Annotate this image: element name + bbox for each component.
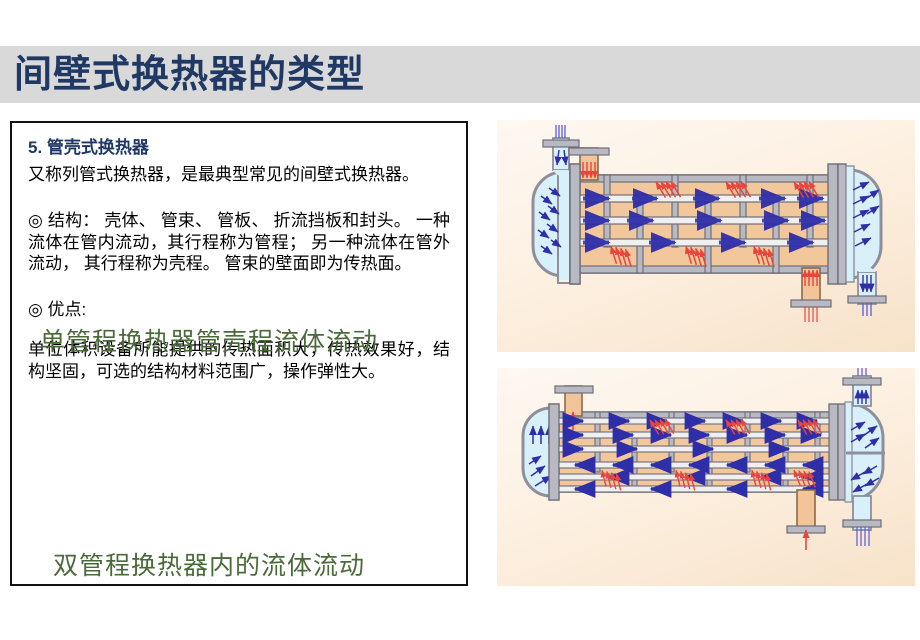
diagram-panel-single-pass (497, 120, 915, 352)
spacer-1 (28, 192, 450, 210)
two-pass-exchanger-svg (497, 368, 915, 586)
spacer-2 (28, 281, 450, 299)
caption-two-pass: 双管程换热器内的流体流动 (0, 546, 418, 582)
tube-nozzle-right-bottom (843, 496, 881, 546)
caption-single-pass: 单管程换热器管壳程流体流动 (0, 322, 418, 358)
textbox-paragraph-1: 又称列管式换热器，是最典型常见的间壁式换热器。 (28, 164, 450, 186)
tube-nozzle-right-top (843, 368, 881, 406)
textbox-paragraph-2: ◎ 结构： 壳体、 管束、 管板、 折流挡板和封头。 一种流体在管内流动，其行程… (28, 210, 450, 275)
diagram-panel-two-pass (497, 368, 915, 586)
page-title: 间壁式换热器的类型 (14, 46, 714, 103)
right-head-two-pass (845, 402, 885, 502)
textbox-paragraph-3: ◎ 优点: (28, 299, 450, 321)
textbox-heading: 5. 管壳式换热器 (28, 137, 450, 159)
right-head (846, 166, 881, 282)
shell-outlet-nozzle-bottom (791, 268, 831, 322)
shell-outlet-nozzle-bottom (787, 490, 825, 550)
slide-root: 间壁式换热器的类型 5. 管壳式换热器 又称列管式换热器，是最典型常见的间壁式换… (0, 0, 920, 640)
single-pass-exchanger-svg (497, 120, 915, 352)
